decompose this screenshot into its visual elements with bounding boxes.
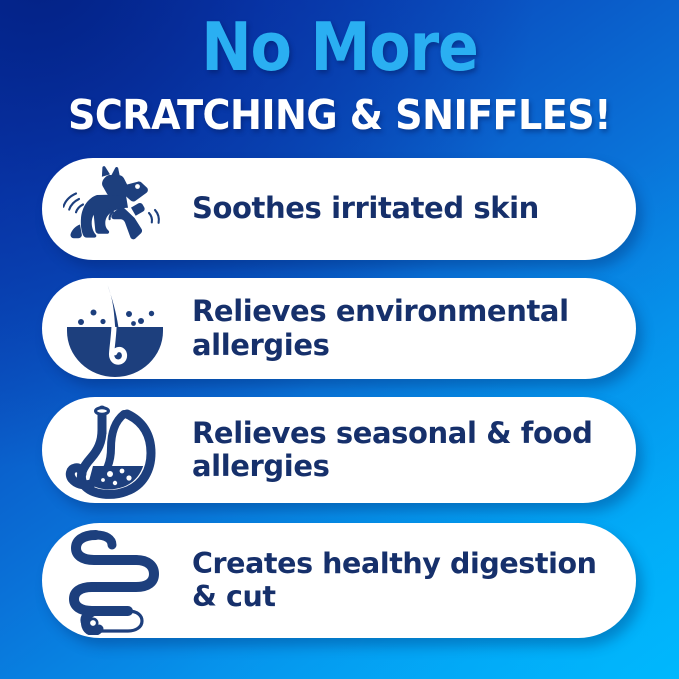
benefit-card-label: Relieves seasonal & food allergies (174, 417, 636, 483)
hair-follicle-skin-icon (56, 278, 174, 379)
benefit-card: Relieves environmental allergies (42, 278, 636, 379)
stomach-icon (56, 397, 174, 503)
benefit-card: Creates healthy digestion & cut (42, 523, 636, 638)
page-title: No More (0, 14, 679, 81)
page-subtitle: SCRATCHING & SNIFFLES! (24, 95, 655, 136)
poster-headings: No More SCRATCHING & SNIFFLES! (0, 0, 679, 136)
benefit-card-label: Creates healthy digestion & cut (174, 548, 636, 613)
intestine-icon (56, 523, 174, 638)
benefit-card-label: Relieves environmental allergies (174, 295, 636, 361)
promo-poster: No More SCRATCHING & SNIFFLES! (0, 0, 679, 679)
benefit-card-label: Soothes irritated skin (174, 192, 636, 225)
scratching-dog-icon (56, 158, 174, 260)
benefit-card: Relieves seasonal & food allergies (42, 397, 636, 503)
benefit-card: Soothes irritated skin (42, 158, 636, 260)
